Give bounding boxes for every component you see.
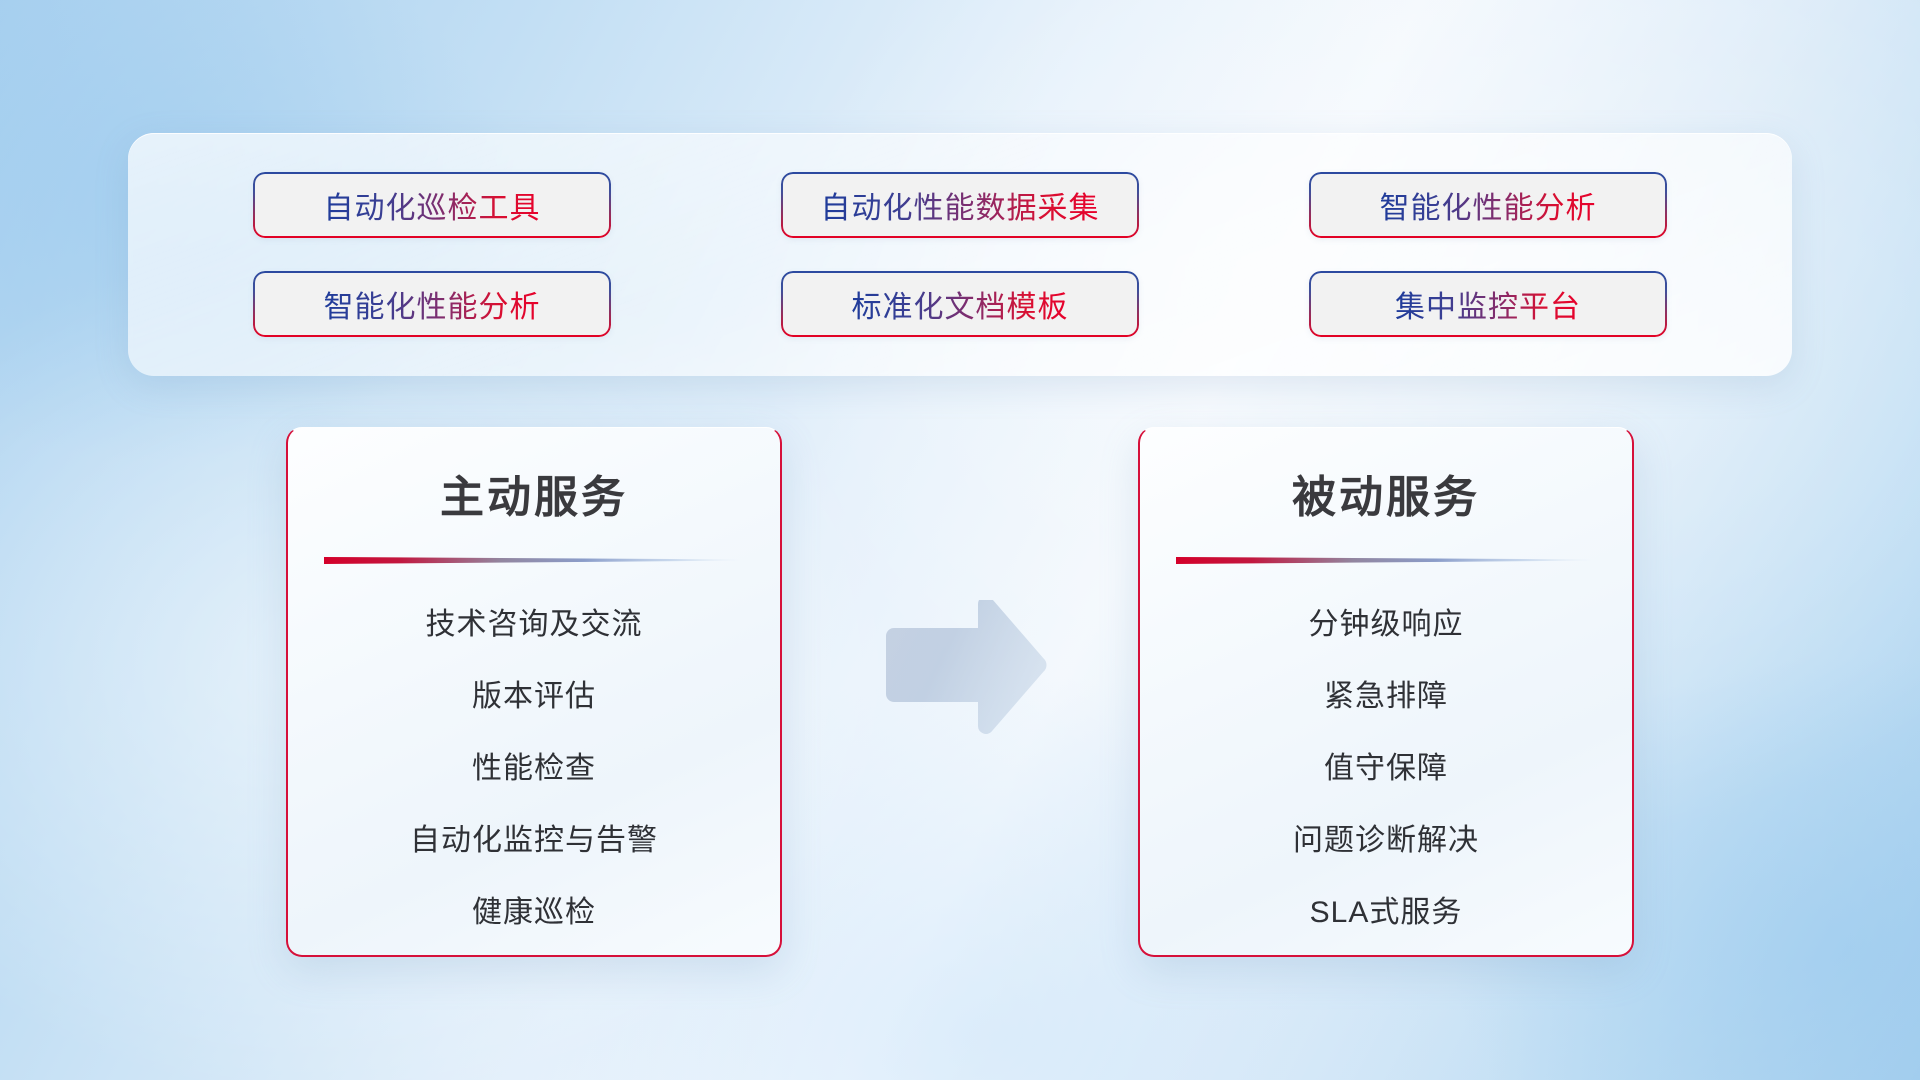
service-item-list: 技术咨询及交流 版本评估 性能检查 自动化监控与告警 健康巡检 — [288, 601, 780, 937]
capability-tag-5[interactable]: 标准化文档模板 — [781, 271, 1139, 337]
capability-tag-label: 智能化性能分析 — [324, 282, 541, 326]
title-divider — [1176, 555, 1596, 565]
service-item[interactable]: 问题诊断解决 — [1293, 817, 1479, 865]
service-item[interactable]: 分钟级响应 — [1309, 601, 1464, 649]
capability-tag-1[interactable]: 自动化巡检工具 — [253, 172, 611, 238]
service-item[interactable]: 紧急排障 — [1324, 673, 1448, 721]
service-item[interactable]: SLA式服务 — [1310, 889, 1463, 937]
service-item[interactable]: 值守保障 — [1324, 745, 1448, 793]
service-item-list: 分钟级响应 紧急排障 值守保障 问题诊断解决 SLA式服务 — [1140, 601, 1632, 937]
service-card-proactive[interactable]: 主动服务 技术咨询及交流 版本评估 性能检查 — [286, 427, 782, 957]
capability-tag-label: 集中监控平台 — [1395, 282, 1581, 326]
service-item[interactable]: 健康巡检 — [472, 889, 596, 937]
capability-tags-grid: 自动化巡检工具 自动化性能数据采集 智能化性能分析 智能化性能分析 标准化文档模… — [128, 133, 1792, 376]
capability-tag-3[interactable]: 智能化性能分析 — [1309, 172, 1667, 238]
card-title: 被动服务 — [1140, 461, 1632, 525]
slide-canvas: 自动化巡检工具 自动化性能数据采集 智能化性能分析 智能化性能分析 标准化文档模… — [0, 0, 1920, 1080]
service-item[interactable]: 版本评估 — [472, 673, 596, 721]
capability-tag-label: 自动化巡检工具 — [324, 183, 541, 227]
capability-tag-2[interactable]: 自动化性能数据采集 — [781, 172, 1139, 238]
service-item[interactable]: 性能检查 — [472, 745, 596, 793]
capability-tags-panel: 自动化巡检工具 自动化性能数据采集 智能化性能分析 智能化性能分析 标准化文档模… — [128, 133, 1792, 376]
service-card-reactive[interactable]: 被动服务 分钟级响应 紧急排障 值守保障 — [1138, 427, 1634, 957]
capability-tag-4[interactable]: 智能化性能分析 — [253, 271, 611, 337]
capability-tag-6[interactable]: 集中监控平台 — [1309, 271, 1667, 337]
capability-tag-label: 标准化文档模板 — [852, 282, 1069, 326]
capability-tag-label: 自动化性能数据采集 — [821, 183, 1100, 227]
capability-tag-label: 智能化性能分析 — [1380, 183, 1597, 227]
service-item[interactable]: 自动化监控与告警 — [410, 817, 658, 865]
right-arrow-icon — [876, 600, 1048, 738]
service-item[interactable]: 技术咨询及交流 — [426, 601, 643, 649]
title-divider — [324, 555, 744, 565]
card-title: 主动服务 — [288, 461, 780, 525]
